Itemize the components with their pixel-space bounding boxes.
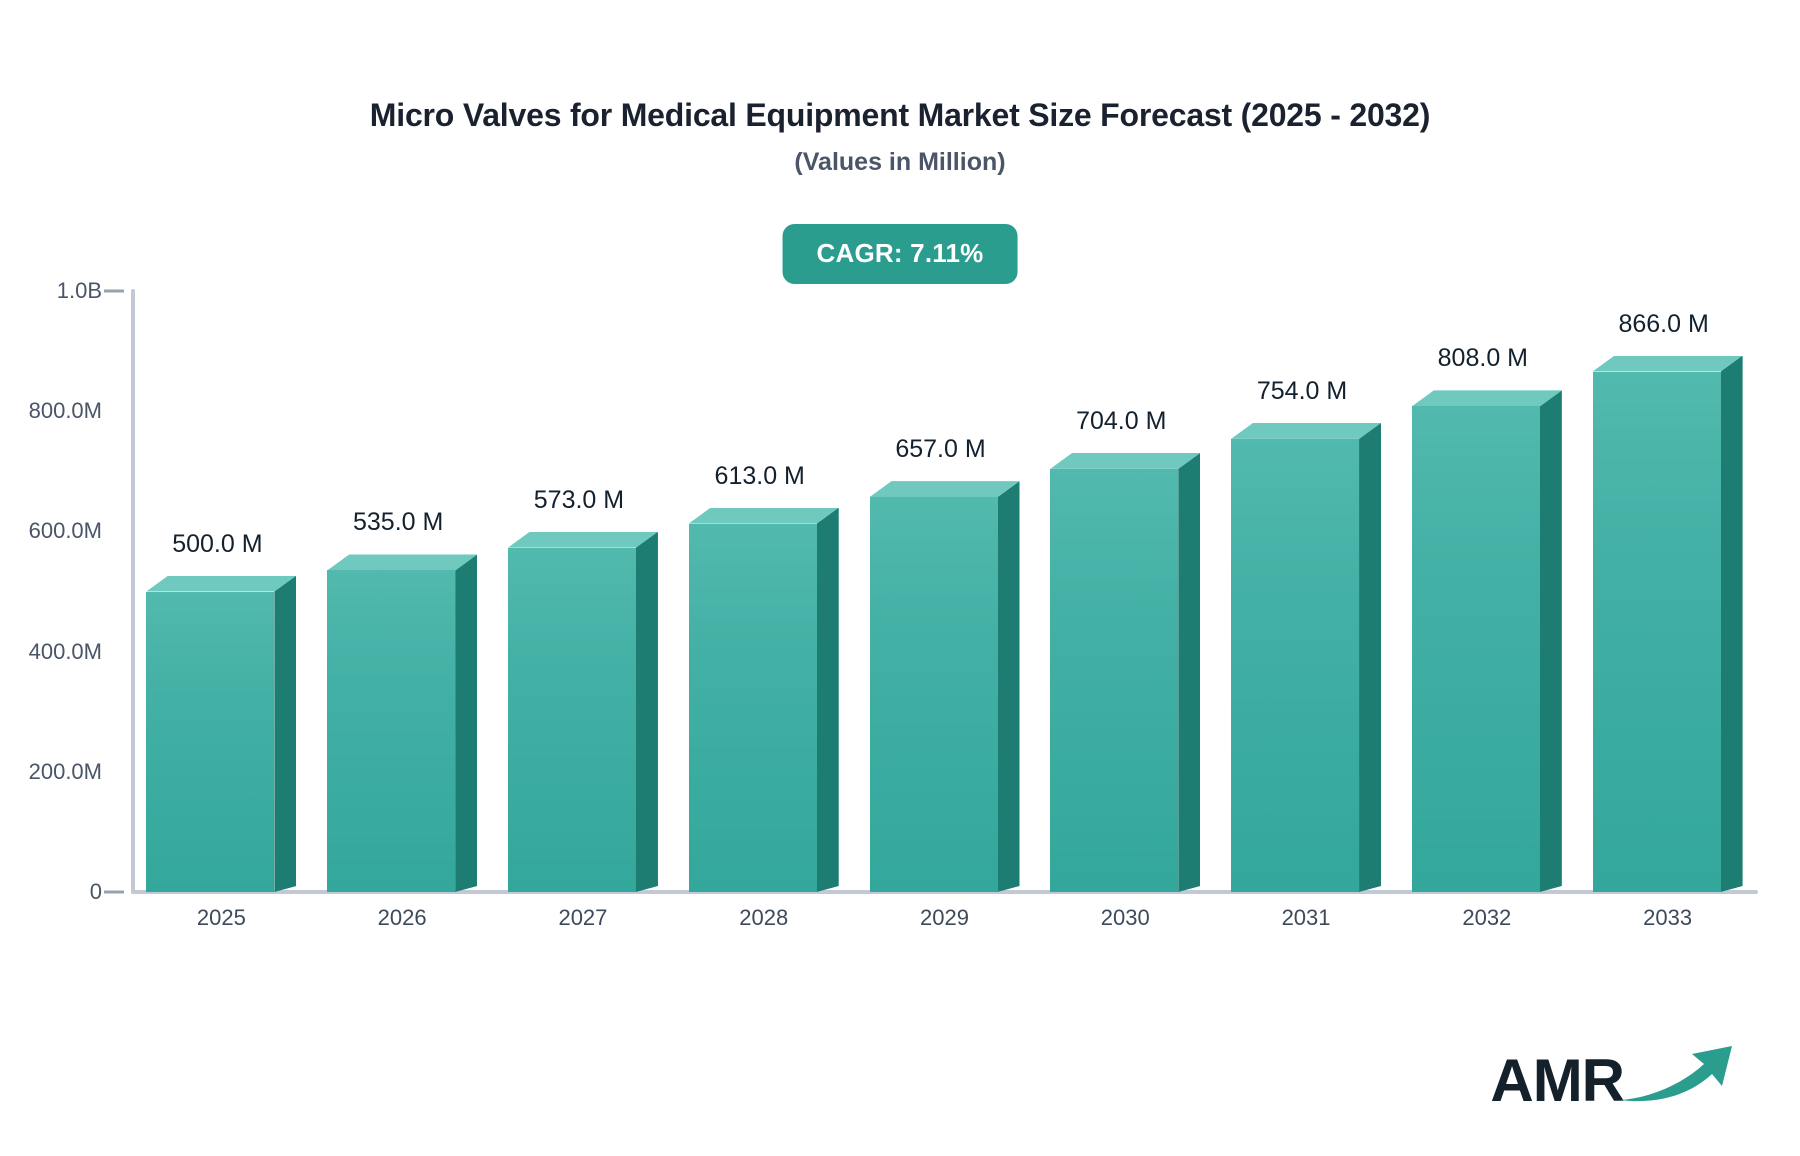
- bar-column[interactable]: [327, 554, 477, 892]
- bar-top-face: [1050, 453, 1200, 469]
- bar-column[interactable]: [689, 508, 839, 892]
- bar-front-face: [508, 548, 636, 892]
- y-axis-tick-label: 400.0M: [0, 639, 102, 665]
- y-axis-tick-label: 600.0M: [0, 518, 102, 544]
- chart-plot-area: 0200.0M400.0M600.0M800.0M1.0B 2025202620…: [0, 0, 1800, 1156]
- y-axis-tick-mark: [104, 891, 124, 894]
- bar-top-face: [1412, 390, 1562, 406]
- bar-top-face: [1231, 423, 1381, 439]
- x-axis-tick-label: 2025: [197, 905, 246, 931]
- bar-front-face: [689, 524, 817, 892]
- bar-front-face: [1593, 372, 1721, 892]
- bar-column[interactable]: [870, 481, 1020, 892]
- bar-front-face: [1050, 469, 1178, 892]
- bar-top-face: [870, 481, 1020, 497]
- x-axis-tick-label: 2029: [920, 905, 969, 931]
- bar-column[interactable]: [508, 532, 658, 892]
- x-axis-tick-label: 2027: [558, 905, 607, 931]
- bar-value-label: 500.0 M: [172, 530, 262, 559]
- bar-top-face: [327, 554, 477, 570]
- bar-side-panel: [1721, 356, 1743, 892]
- bar-value-label: 808.0 M: [1438, 344, 1528, 373]
- bar-front-face: [870, 497, 998, 892]
- x-axis-tick-label: 2026: [378, 905, 427, 931]
- x-axis-tick-label: 2033: [1643, 905, 1692, 931]
- bar-side-panel: [274, 576, 296, 893]
- y-axis-tick-label: 0: [0, 879, 102, 905]
- bar-side-panel: [1540, 390, 1562, 892]
- bar-front-face: [327, 570, 455, 892]
- bar-front-face: [1412, 406, 1540, 892]
- y-axis-tick-label: 1.0B: [0, 278, 102, 304]
- bar-side-panel: [1359, 423, 1381, 892]
- bar-column[interactable]: [1231, 423, 1381, 892]
- amr-wordmark: AMR: [1490, 1051, 1624, 1111]
- y-axis-line: [131, 289, 135, 894]
- amr-logo: AMR: [1490, 1042, 1738, 1111]
- bar-value-label: 573.0 M: [534, 486, 624, 515]
- x-axis-tick-label: 2031: [1282, 905, 1331, 931]
- bar-value-label: 754.0 M: [1257, 377, 1347, 406]
- bar-top-face: [689, 508, 839, 524]
- bar-value-label: 613.0 M: [715, 462, 805, 491]
- bar-side-panel: [636, 532, 658, 892]
- bar-front-face: [1231, 439, 1359, 892]
- y-axis-tick-label: 200.0M: [0, 759, 102, 785]
- bar-value-label: 704.0 M: [1076, 407, 1166, 436]
- bar-column[interactable]: [1050, 453, 1200, 892]
- x-axis-tick-label: 2032: [1462, 905, 1511, 931]
- bar-top-face: [146, 576, 296, 592]
- bar-top-face: [508, 532, 658, 548]
- bar-column[interactable]: [1412, 390, 1562, 892]
- bar-value-label: 535.0 M: [353, 508, 443, 537]
- y-axis-tick-label: 800.0M: [0, 398, 102, 424]
- y-axis-tick-mark: [104, 290, 124, 293]
- bar-side-panel: [455, 554, 477, 892]
- bar-side-panel: [998, 481, 1020, 892]
- bar-column[interactable]: [146, 576, 296, 893]
- x-axis-tick-label: 2028: [739, 905, 788, 931]
- bar-top-face: [1593, 356, 1743, 372]
- growth-arrow-icon: [1618, 1042, 1738, 1109]
- bar-front-face: [146, 592, 274, 893]
- bar-side-panel: [817, 508, 839, 892]
- bar-value-label: 866.0 M: [1618, 310, 1708, 339]
- x-axis-tick-label: 2030: [1101, 905, 1150, 931]
- bar-side-panel: [1178, 453, 1200, 892]
- bar-value-label: 657.0 M: [895, 435, 985, 464]
- bar-column[interactable]: [1593, 356, 1743, 892]
